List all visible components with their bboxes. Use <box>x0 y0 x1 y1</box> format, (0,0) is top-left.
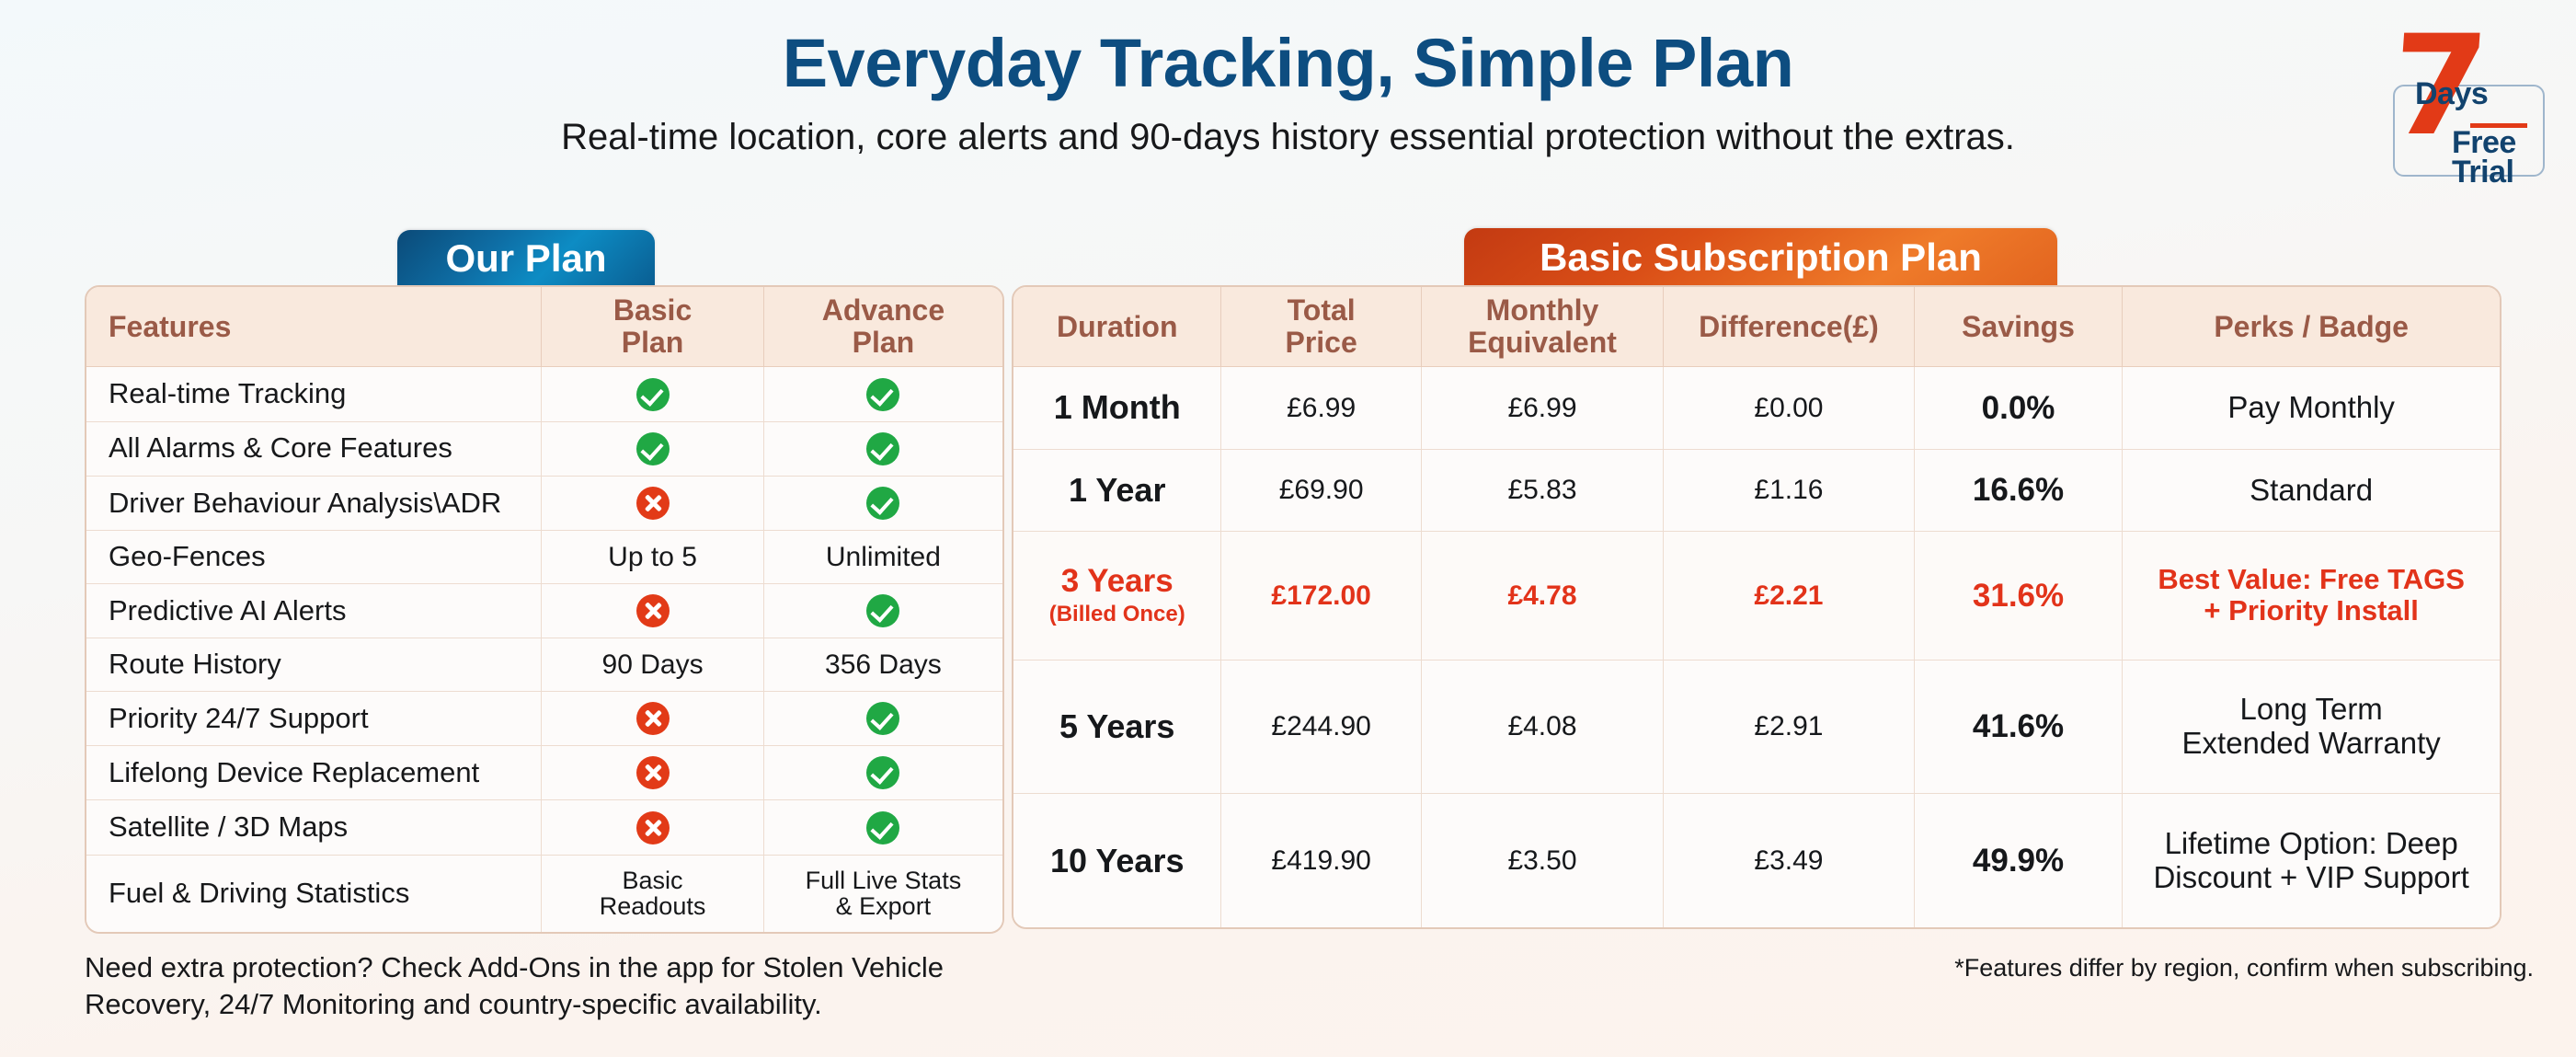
feature-value-basic: 90 Days <box>542 638 764 692</box>
cross-icon <box>636 487 670 520</box>
feature-value-basic: BasicReadouts <box>542 855 764 932</box>
table-row: Route History90 Days356 Days <box>86 638 1002 692</box>
page-subtitle: Real-time location, core alerts and 90-d… <box>0 116 2576 158</box>
feature-table-header-row: Features Basic Plan Advance Plan <box>86 287 1002 367</box>
col-header-monthly-line2: Equivalent <box>1468 326 1617 359</box>
cell-perks: Best Value: Free TAGS+ Priority Install <box>2123 532 2500 660</box>
cell-total-price-line1: £244.90 <box>1271 711 1370 741</box>
subscription-pricing-table: Duration Total Price Monthly Equivalent … <box>1013 287 2500 927</box>
cell-savings: 0.0% <box>1914 367 2123 449</box>
col-header-advance-plan: Advance Plan <box>763 287 1002 367</box>
cell-difference-line1: £2.21 <box>1754 580 1823 611</box>
cell-total-price-line1: £419.90 <box>1271 845 1370 876</box>
pricing-table-head: Duration Total Price Monthly Equivalent … <box>1013 287 2500 367</box>
cell-total-price-line1: £6.99 <box>1287 393 1356 423</box>
feature-value-advance: Unlimited <box>763 531 1002 584</box>
table-row: Lifelong Device Replacement <box>86 746 1002 800</box>
feature-name: Predictive AI Alerts <box>86 583 542 638</box>
cell-savings-line1: 16.6% <box>1973 472 2064 508</box>
cell-monthly-equivalent: £5.83 <box>1421 449 1663 531</box>
feature-value-basic <box>542 476 764 530</box>
cell-difference-line1: £0.00 <box>1754 393 1823 423</box>
table-row: 5 Years£244.90£4.08£2.9141.6%Long TermEx… <box>1013 660 2500 794</box>
table-row: Priority 24/7 Support <box>86 691 1002 745</box>
table-row: 3 Years(Billed Once)£172.00£4.78£2.2131.… <box>1013 532 2500 660</box>
table-row: Geo-FencesUp to 5Unlimited <box>86 531 1002 584</box>
check-icon <box>866 487 899 520</box>
footer-note-addons: Need extra protection? Check Add-Ons in … <box>85 949 1059 1022</box>
trial-days-label: Days <box>2415 76 2488 112</box>
cell-perks-line1: Lifetime Option: Deep <box>2165 826 2458 860</box>
check-icon <box>636 378 670 411</box>
basic-value-line2: Readouts <box>600 892 706 920</box>
check-icon <box>866 432 899 465</box>
feature-value-advance <box>763 367 1002 421</box>
feature-comparison-table: Features Basic Plan Advance Plan Real-ti… <box>86 287 1002 932</box>
cell-total-price: £69.90 <box>1221 449 1421 531</box>
duration-note: (Billed Once) <box>1023 602 1211 628</box>
duration-label: 10 Years <box>1050 842 1185 879</box>
cell-savings-line1: 49.9% <box>1973 843 2064 879</box>
col-header-savings: Savings <box>1914 287 2123 367</box>
feature-name: Real-time Tracking <box>86 367 542 421</box>
cell-difference: £2.91 <box>1664 660 1915 794</box>
feature-value-basic <box>542 691 764 745</box>
table-row: 10 Years£419.90£3.50£3.4949.9%Lifetime O… <box>1013 794 2500 927</box>
feature-value-basic <box>542 746 764 800</box>
feature-value-advance: 356 Days <box>763 638 1002 692</box>
cell-savings: 41.6% <box>1914 660 2123 794</box>
cell-difference: £0.00 <box>1664 367 1915 449</box>
cell-duration: 10 Years <box>1013 794 1221 927</box>
cell-perks: Lifetime Option: DeepDiscount + VIP Supp… <box>2123 794 2500 927</box>
duration-label: 3 Years <box>1061 563 1174 599</box>
cell-difference: £2.21 <box>1664 532 1915 660</box>
feature-value-advance: Full Live Stats& Export <box>763 855 1002 932</box>
feature-name: Geo-Fences <box>86 531 542 584</box>
duration-label: 1 Year <box>1069 471 1165 509</box>
cell-monthly-equivalent-line1: £4.08 <box>1507 711 1576 741</box>
footer-note-region: *Features differ by region, confirm when… <box>1743 953 2534 984</box>
feature-comparison-table-card: Features Basic Plan Advance Plan Real-ti… <box>85 285 1004 934</box>
table-row: 1 Month£6.99£6.99£0.000.0%Pay Monthly <box>1013 367 2500 449</box>
check-icon <box>636 432 670 465</box>
feature-value-advance <box>763 691 1002 745</box>
cell-duration: 5 Years <box>1013 660 1221 794</box>
cell-monthly-equivalent: £4.08 <box>1421 660 1663 794</box>
cell-perks-line2: Extended Warranty <box>2182 726 2441 760</box>
cross-icon <box>636 756 670 789</box>
feature-name: Driver Behaviour Analysis\ADR <box>86 476 542 530</box>
trial-trial-label: Trial <box>2452 155 2513 190</box>
cell-duration: 1 Month <box>1013 367 1221 449</box>
cell-monthly-equivalent: £4.78 <box>1421 532 1663 660</box>
feature-name: Lifelong Device Replacement <box>86 746 542 800</box>
feature-name: Route History <box>86 638 542 692</box>
cell-difference-line1: £1.16 <box>1754 475 1823 505</box>
table-row: All Alarms & Core Features <box>86 421 1002 476</box>
col-header-monthly-equivalent: Monthly Equivalent <box>1421 287 1663 367</box>
feature-name: Satellite / 3D Maps <box>86 800 542 855</box>
cell-perks-line2: Discount + VIP Support <box>2153 860 2468 894</box>
feature-value-advance <box>763 800 1002 855</box>
feature-value-advance <box>763 421 1002 476</box>
feature-value-advance <box>763 583 1002 638</box>
cell-perks: Pay Monthly <box>2123 367 2500 449</box>
cell-perks-line1: Best Value: Free TAGS <box>2158 563 2465 595</box>
cell-monthly-equivalent-line1: £6.99 <box>1507 393 1576 423</box>
cell-total-price: £244.90 <box>1221 660 1421 794</box>
cell-total-price-line1: £172.00 <box>1271 580 1370 611</box>
cell-duration: 1 Year <box>1013 449 1221 531</box>
seven-day-free-trial-badge: 7 Days Free Trial <box>2386 26 2556 187</box>
feature-value-advance <box>763 476 1002 530</box>
advance-value-line2: & Export <box>836 892 932 920</box>
cell-monthly-equivalent-line1: £3.50 <box>1507 845 1576 876</box>
feature-value-advance <box>763 746 1002 800</box>
page-title: Everyday Tracking, Simple Plan <box>0 28 2576 99</box>
feature-table-head: Features Basic Plan Advance Plan <box>86 287 1002 367</box>
duration-label: 1 Month <box>1054 388 1181 426</box>
col-header-features: Features <box>86 287 542 367</box>
check-icon <box>866 811 899 844</box>
cell-perks-line2: + Priority Install <box>2204 594 2418 626</box>
col-header-duration: Duration <box>1013 287 1221 367</box>
cell-total-price: £419.90 <box>1221 794 1421 927</box>
cell-difference: £1.16 <box>1664 449 1915 531</box>
advance-value-line1: 356 Days <box>825 649 942 680</box>
advance-value-line1: Full Live Stats <box>806 867 962 894</box>
feature-name: All Alarms & Core Features <box>86 421 542 476</box>
pricing-table-header-row: Duration Total Price Monthly Equivalent … <box>1013 287 2500 367</box>
feature-value-basic: Up to 5 <box>542 531 764 584</box>
cell-savings: 16.6% <box>1914 449 2123 531</box>
cell-savings-line1: 0.0% <box>1982 390 2055 426</box>
feature-name: Fuel & Driving Statistics <box>86 855 542 932</box>
cell-savings-line1: 41.6% <box>1973 708 2064 744</box>
basic-value-line1: Basic <box>623 867 683 894</box>
check-icon <box>866 702 899 735</box>
cross-icon <box>636 811 670 844</box>
pricing-table-body: 1 Month£6.99£6.99£0.000.0%Pay Monthly1 Y… <box>1013 367 2500 927</box>
cell-total-price-line1: £69.90 <box>1279 475 1364 505</box>
cell-savings-line1: 31.6% <box>1973 578 2064 614</box>
feature-value-basic <box>542 421 764 476</box>
cell-monthly-equivalent: £6.99 <box>1421 367 1663 449</box>
col-header-advance-line2: Plan <box>853 326 915 359</box>
cell-duration: 3 Years(Billed Once) <box>1013 532 1221 660</box>
cell-perks: Standard <box>2123 449 2500 531</box>
cell-difference-line1: £2.91 <box>1754 711 1823 741</box>
tab-basic-subscription-plan[interactable]: Basic Subscription Plan <box>1464 228 2057 287</box>
col-header-total-line1: Total <box>1288 293 1356 327</box>
page-header: Everyday Tracking, Simple Plan Real-time… <box>0 28 2576 158</box>
col-header-total-line2: Price <box>1285 326 1357 359</box>
col-header-total-price: Total Price <box>1221 287 1421 367</box>
cell-difference-line1: £3.49 <box>1754 845 1823 876</box>
pricing-comparison-page: Everyday Tracking, Simple Plan Real-time… <box>0 0 2576 1057</box>
feature-value-basic <box>542 583 764 638</box>
cell-perks-line1: Long Term <box>2239 692 2382 726</box>
advance-value-line1: Unlimited <box>826 542 941 572</box>
check-icon <box>866 378 899 411</box>
tab-our-plan[interactable]: Our Plan <box>397 230 655 287</box>
basic-value-line1: 90 Days <box>602 649 704 680</box>
cross-icon <box>636 594 670 627</box>
col-header-basic-line1: Basic <box>613 293 692 327</box>
cell-monthly-equivalent: £3.50 <box>1421 794 1663 927</box>
col-header-basic-line2: Plan <box>622 326 684 359</box>
feature-value-basic <box>542 367 764 421</box>
cell-perks-line1: Standard <box>2250 473 2373 507</box>
feature-name: Priority 24/7 Support <box>86 691 542 745</box>
cross-icon <box>636 702 670 735</box>
table-row: Satellite / 3D Maps <box>86 800 1002 855</box>
col-header-monthly-line1: Monthly <box>1486 293 1599 327</box>
feature-table-body: Real-time TrackingAll Alarms & Core Feat… <box>86 367 1002 932</box>
table-row: Real-time Tracking <box>86 367 1002 421</box>
table-row: Driver Behaviour Analysis\ADR <box>86 476 1002 530</box>
check-icon <box>866 756 899 789</box>
table-row: 1 Year£69.90£5.83£1.1616.6%Standard <box>1013 449 2500 531</box>
duration-label: 5 Years <box>1059 707 1174 745</box>
table-row: Fuel & Driving StatisticsBasicReadoutsFu… <box>86 855 1002 932</box>
col-header-perks-badge: Perks / Badge <box>2123 287 2500 367</box>
cell-monthly-equivalent-line1: £4.78 <box>1507 580 1576 611</box>
subscription-pricing-table-card: Duration Total Price Monthly Equivalent … <box>1012 285 2502 929</box>
col-header-advance-line1: Advance <box>822 293 945 327</box>
cell-savings: 31.6% <box>1914 532 2123 660</box>
cell-perks: Long TermExtended Warranty <box>2123 660 2500 794</box>
check-icon <box>866 594 899 627</box>
cell-savings: 49.9% <box>1914 794 2123 927</box>
cell-total-price: £172.00 <box>1221 532 1421 660</box>
cell-difference: £3.49 <box>1664 794 1915 927</box>
cell-total-price: £6.99 <box>1221 367 1421 449</box>
cell-monthly-equivalent-line1: £5.83 <box>1507 475 1576 505</box>
col-header-difference: Difference(£) <box>1664 287 1915 367</box>
table-row: Predictive AI Alerts <box>86 583 1002 638</box>
basic-value-line1: Up to 5 <box>608 542 697 572</box>
col-header-basic-plan: Basic Plan <box>542 287 764 367</box>
feature-value-basic <box>542 800 764 855</box>
cell-perks-line1: Pay Monthly <box>2227 390 2395 424</box>
